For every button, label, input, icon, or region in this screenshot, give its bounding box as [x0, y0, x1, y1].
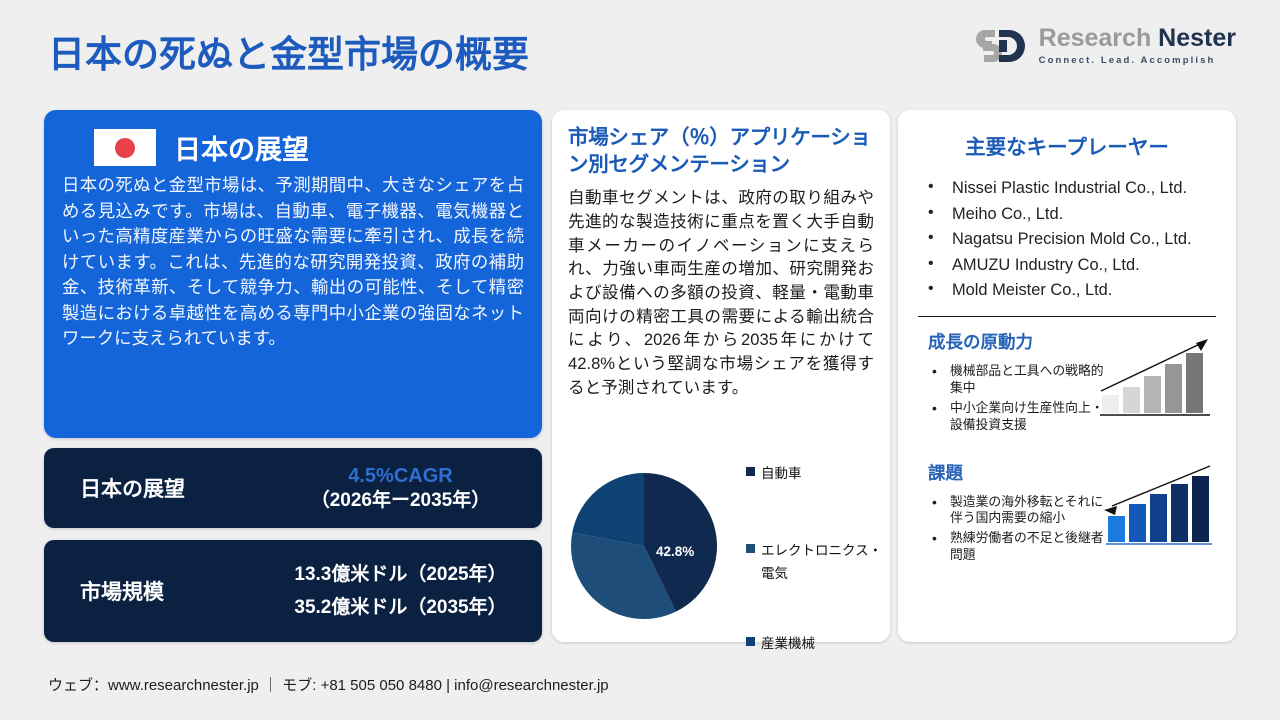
list-item: Nissei Plastic Industrial Co., Ltd. [924, 176, 1218, 202]
stat-label-cagr: 日本の展望 [44, 473, 259, 503]
pie-chart-area: 42.8% 自動車 エレクトロニクス・電気 産業機械 [560, 450, 882, 630]
logo-name-bold: Nester [1158, 24, 1236, 52]
segmentation-body: 自動車セグメントは、政府の取り組みや先進的な製造技術に重点を置く大手自動車メーカ… [568, 186, 874, 399]
japan-outlook-card: 日本の展望 日本の死ぬと金型市場は、予測期間中、大きなシェアを占める見込みです。… [44, 110, 542, 438]
legend-label-industrial: 産業機械 [761, 632, 815, 655]
list-item: Meiho Co., Ltd. [924, 202, 1218, 228]
pie-chart-svg [564, 466, 724, 626]
challenges-bar-chart-icon [1098, 460, 1216, 546]
list-item: 中小企業向け生産性向上・設備投資支援 [928, 400, 1112, 434]
list-item: 機械部品と工具への戦略的集中 [928, 363, 1112, 397]
logo-text: Research Nester Connect. Lead. Accomplis… [1039, 26, 1236, 66]
legend-swatch-electronics [746, 544, 755, 553]
stat-values-market-size: 13.3億米ドル（2025年） 35.2億米ドル（2035年） [259, 558, 542, 625]
pie-chart: 42.8% [564, 466, 724, 626]
section-divider [918, 316, 1216, 317]
list-item: 熟練労働者の不足と後継者問題 [928, 530, 1112, 564]
list-item: Nagatsu Precision Mold Co., Ltd. [924, 227, 1218, 253]
challenges-list: 製造業の海外移転とそれに伴う国内需要の縮小 熟練労働者の不足と後継者問題 [916, 494, 1112, 565]
legend-item-electronics: エレクトロニクス・電気 [746, 539, 886, 585]
legend-item-automotive: 自動車 [746, 462, 886, 485]
legend-label-electronics: エレクトロニクス・電気 [761, 539, 886, 585]
page-title: 日本の死ぬと金型市場の概要 [48, 24, 529, 78]
legend-swatch-automotive [746, 467, 755, 476]
footer-contact: ウェブ：www.researchnester.jp ｜ モブ: +81 505 … [48, 674, 609, 695]
segmentation-card: 市場シェア（％）アプリケーション別セグメンテーション 自動車セグメントは、政府の… [552, 110, 890, 642]
market-size-2035: 35.2億米ドル（2035年） [259, 591, 542, 624]
logo-tagline: Connect. Lead. Accomplish [1039, 56, 1236, 66]
japan-flag-icon [94, 129, 156, 166]
cagr-period: （2026年ー2035年） [259, 489, 542, 513]
pie-data-label-automotive: 42.8% [656, 544, 694, 559]
research-nester-logo: Research Nester Connect. Lead. Accomplis… [975, 26, 1236, 66]
key-players-list: Nissei Plastic Industrial Co., Ltd. Meih… [916, 176, 1218, 304]
list-item: AMUZU Industry Co., Ltd. [924, 253, 1218, 279]
segmentation-title: 市場シェア（％）アプリケーション別セグメンテーション [568, 124, 874, 178]
logo-name-light: Research [1039, 24, 1159, 52]
list-item: Mold Meister Co., Ltd. [924, 278, 1218, 304]
legend-label-automotive: 自動車 [761, 462, 802, 485]
list-item: 製造業の海外移転とそれに伴う国内需要の縮小 [928, 494, 1112, 528]
slide-root: 日本の死ぬと金型市場の概要 Research Nester Connect. L… [0, 0, 1280, 720]
outlook-header: 日本の展望 [94, 128, 524, 167]
legend-swatch-industrial [746, 637, 755, 646]
key-players-title: 主要なキープレーヤー [916, 130, 1218, 160]
logo-name: Research Nester [1039, 26, 1236, 51]
stat-box-cagr: 日本の展望 4.5%CAGR （2026年ー2035年） [44, 448, 542, 528]
stat-label-market-size: 市場規模 [44, 576, 259, 606]
growth-bar-chart-icon [1098, 331, 1216, 417]
market-size-2025: 13.3億米ドル（2025年） [259, 558, 542, 591]
pie-legend: 自動車 エレクトロニクス・電気 産業機械 [746, 458, 886, 655]
key-players-card: 主要なキープレーヤー Nissei Plastic Industrial Co.… [898, 110, 1236, 642]
legend-item-industrial: 産業機械 [746, 632, 886, 655]
stat-values-cagr: 4.5%CAGR （2026年ー2035年） [259, 464, 542, 513]
challenges-block: 課題 製造業の海外移転とそれに伴う国内需要の縮小 熟練労働者の不足と後継者問題 [916, 460, 1218, 565]
logo-mark-icon [975, 26, 1029, 66]
growth-drivers-list: 機械部品と工具への戦略的集中 中小企業向け生産性向上・設備投資支援 [916, 363, 1112, 434]
outlook-body: 日本の死ぬと金型市場は、予測期間中、大きなシェアを占める見込みです。市場は、自動… [62, 173, 524, 352]
stat-box-market-size: 市場規模 13.3億米ドル（2025年） 35.2億米ドル（2035年） [44, 540, 542, 642]
growth-drivers-block: 成長の原動力 機械部品と工具への戦略的集中 中小企業向け生産性向上・設備投資支援 [916, 329, 1218, 434]
cagr-value: 4.5%CAGR [259, 464, 542, 489]
outlook-heading: 日本の展望 [174, 128, 309, 167]
